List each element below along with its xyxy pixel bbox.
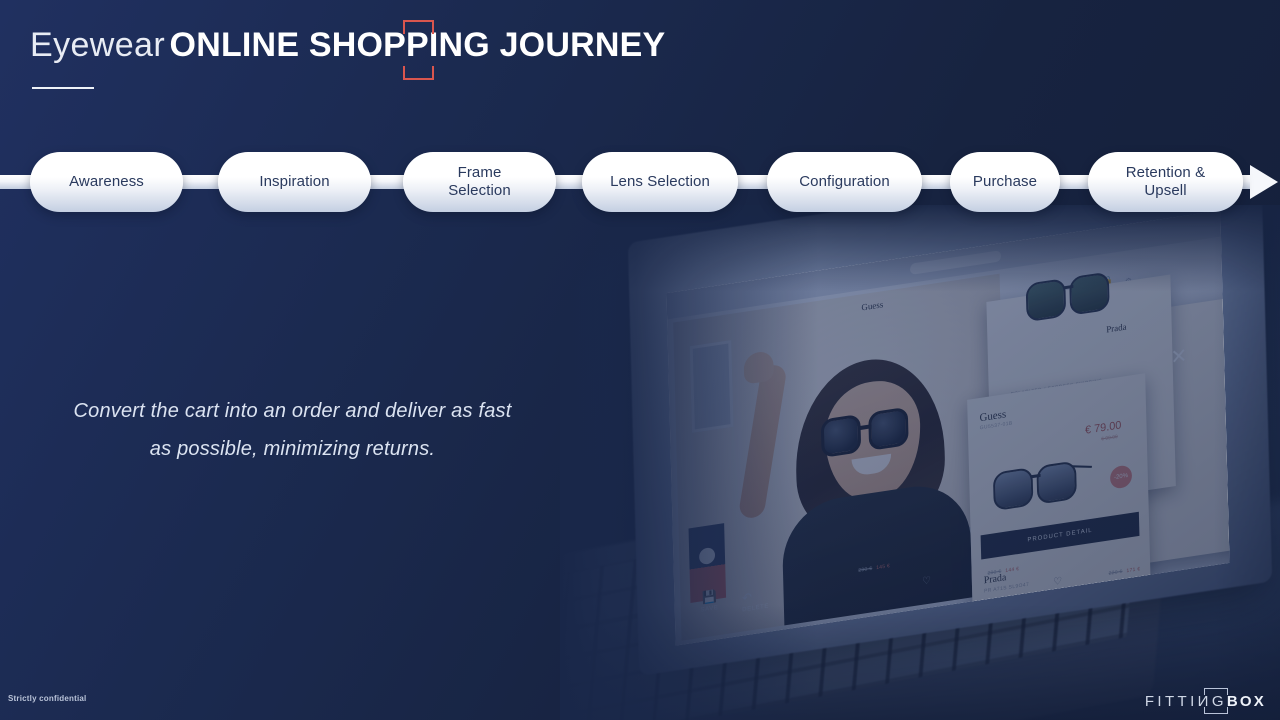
logo-bracket-icon <box>1204 688 1228 714</box>
logo-bold-part: BOX <box>1227 693 1266 710</box>
step-label: Lens Selection <box>610 173 710 191</box>
description-text: Convert the cart into an order and deliv… <box>60 392 525 469</box>
step-label: Inspiration <box>259 173 329 191</box>
step-awareness[interactable]: Awareness <box>30 152 183 212</box>
confidentiality-notice: Strictly confidential <box>8 694 86 703</box>
step-inspiration[interactable]: Inspiration <box>218 152 371 212</box>
step-label: Purchase <box>973 173 1037 191</box>
page-title: Eyewear ONLINE SHOPPING JOURNEY <box>30 26 665 65</box>
title-light-part: Eyewear <box>30 26 165 64</box>
background-photo: 💾 SAVE ↶ DELETE Guess ⏻ 🔒 ⚙ ☰ Prada ♡ -1… <box>560 205 1280 720</box>
arrow-right-icon <box>1250 165 1278 199</box>
bracket-frame-icon <box>403 20 434 80</box>
step-retention-upsell[interactable]: Retention &Upsell <box>1088 152 1243 212</box>
step-purchase[interactable]: Purchase <box>950 152 1060 212</box>
step-label: FrameSelection <box>448 164 511 201</box>
slide-canvas: 💾 SAVE ↶ DELETE Guess ⏻ 🔒 ⚙ ☰ Prada ♡ -1… <box>0 0 1280 720</box>
photo-blend-overlay <box>560 205 1280 720</box>
step-label: Awareness <box>69 173 144 191</box>
step-label: Retention &Upsell <box>1126 164 1205 201</box>
step-lens-selection[interactable]: Lens Selection <box>582 152 738 212</box>
fittingbox-logo: FITTIИG BOX <box>1145 690 1266 712</box>
title-underline <box>32 87 94 89</box>
step-label: Configuration <box>799 173 890 191</box>
step-configuration[interactable]: Configuration <box>767 152 922 212</box>
journey-steps: Awareness Inspiration FrameSelection Len… <box>0 152 1280 212</box>
step-frame-selection[interactable]: FrameSelection <box>403 152 556 212</box>
